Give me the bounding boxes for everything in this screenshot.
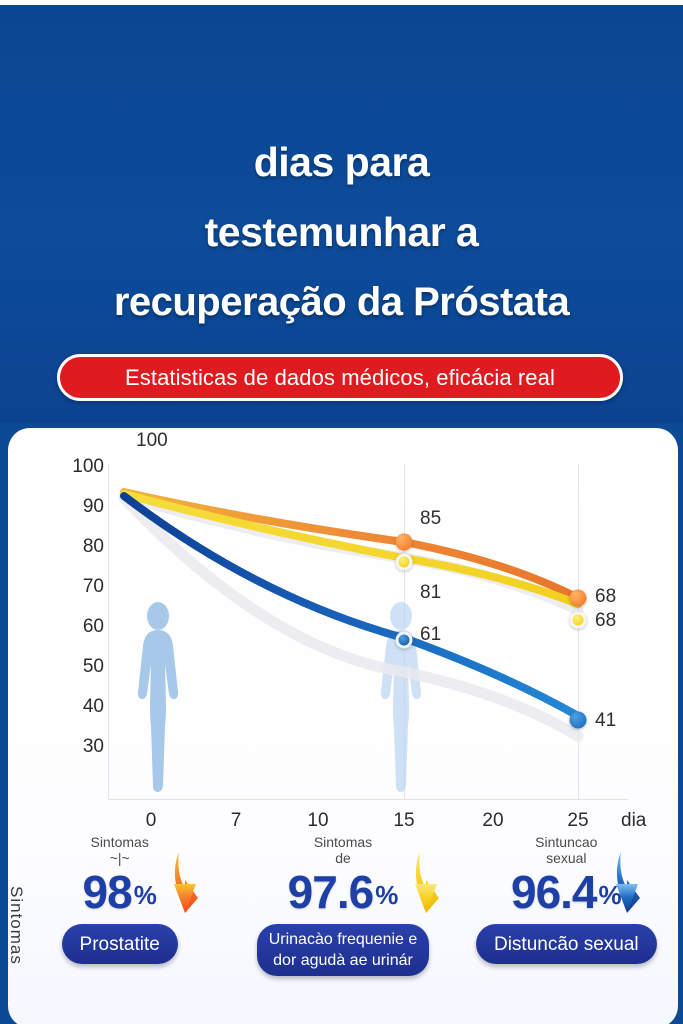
y-tick: 50 xyxy=(58,656,104,678)
stat-disfuncao-sexual: Sintuncao sexual 96.4 % Distuncão sexual xyxy=(455,828,678,1024)
title-line-2: testemunhar a xyxy=(0,197,683,267)
value-label-blue-day25: 41 xyxy=(595,710,616,732)
stat-number: 97.6 xyxy=(288,868,374,916)
pill-urinacao[interactable]: Urinacào frequenie e dor agudà ae urinár xyxy=(257,924,430,976)
stat-prostatite: Sintomas ~|~ 98 % Prostatite xyxy=(8,828,231,1024)
stat-caption: Sintomas ~|~ xyxy=(90,834,148,866)
pill-label: Prostatite xyxy=(80,934,160,955)
stat-number: 96.4 xyxy=(511,868,597,916)
stat-caption: Sintomas de xyxy=(314,834,372,866)
stat-caption-line-2: ~|~ xyxy=(110,850,130,866)
stat-caption: Sintuncao sexual xyxy=(535,834,597,866)
subtitle-badge: Estatisticas de dados médicos, eficácia … xyxy=(57,354,623,401)
title-line-1: dias para xyxy=(0,127,683,197)
pill-disfuncao-sexual[interactable]: Distuncão sexual xyxy=(476,924,657,964)
data-point-blue-day25 xyxy=(570,712,587,729)
stat-percent-sign: % xyxy=(375,880,398,916)
chart-plot-area: 100 85 81 61 68 68 41 xyxy=(108,464,628,800)
pill-label: Distuncão sexual xyxy=(494,934,639,955)
stat-caption-line-2: de xyxy=(335,850,351,866)
data-point-yellow-day15 xyxy=(396,554,413,571)
y-tick: 40 xyxy=(58,696,104,718)
stat-caption-line-1: Sintuncao xyxy=(535,834,597,850)
value-label-start: 100 xyxy=(136,430,168,452)
stat-number: 98 xyxy=(83,868,132,916)
y-tick: 80 xyxy=(58,536,104,558)
y-tick: 100 xyxy=(58,456,104,478)
stat-value-row: 97.6 % xyxy=(288,868,399,916)
chart-y-ticks: 100 90 80 70 60 50 40 30 xyxy=(58,428,104,828)
title-line-3: recuperação da Próstata xyxy=(0,267,683,337)
value-label-orange-day25: 68 xyxy=(595,586,616,608)
y-tick: 90 xyxy=(58,496,104,518)
y-tick: 60 xyxy=(58,616,104,638)
stat-caption-line-1: Sintomas xyxy=(314,834,372,850)
pill-prostatite[interactable]: Prostatite xyxy=(62,924,178,964)
y-tick: 30 xyxy=(58,736,104,758)
pill-label: Urinacào frequenie e dor agudà ae urinár xyxy=(269,929,418,971)
y-tick: 70 xyxy=(58,576,104,598)
value-label-yellow-day15: 81 xyxy=(420,582,441,604)
down-arrow-orange-icon xyxy=(168,850,208,914)
stat-value-row: 96.4 % xyxy=(511,868,622,916)
down-arrow-blue-icon xyxy=(610,850,650,914)
stat-value-row: 98 % xyxy=(83,868,157,916)
data-point-orange-day15 xyxy=(396,534,413,551)
subtitle-badge-label: Estatisticas de dados médicos, eficácia … xyxy=(125,365,555,391)
stat-percent-sign: % xyxy=(134,880,157,916)
stats-row: Sintomas ~|~ 98 % Prostatite Sintomas xyxy=(8,828,678,1024)
down-arrow-yellow-icon xyxy=(409,850,449,914)
data-point-blue-day15 xyxy=(396,632,413,649)
page-title: dias para testemunhar a recuperação da P… xyxy=(0,127,683,337)
data-point-orange-day25 xyxy=(570,590,587,607)
value-label-blue-day15: 61 xyxy=(420,624,441,646)
stat-caption-line-1: Sintomas xyxy=(90,834,148,850)
value-label-yellow-day25: 68 xyxy=(595,610,616,632)
stat-urinacao: Sintomas de 97.6 % Urinacào frequenie e … xyxy=(231,828,454,1024)
data-point-yellow-day25 xyxy=(570,612,587,629)
chart-series-lines xyxy=(108,464,628,800)
stat-caption-line-2: sexual xyxy=(546,850,586,866)
content-card: Sintomas 100 90 80 70 60 50 40 30 0 7 10… xyxy=(8,428,678,1024)
recovery-line-chart: Sintomas 100 90 80 70 60 50 40 30 0 7 10… xyxy=(8,428,678,828)
value-label-orange-day15: 85 xyxy=(420,508,441,530)
